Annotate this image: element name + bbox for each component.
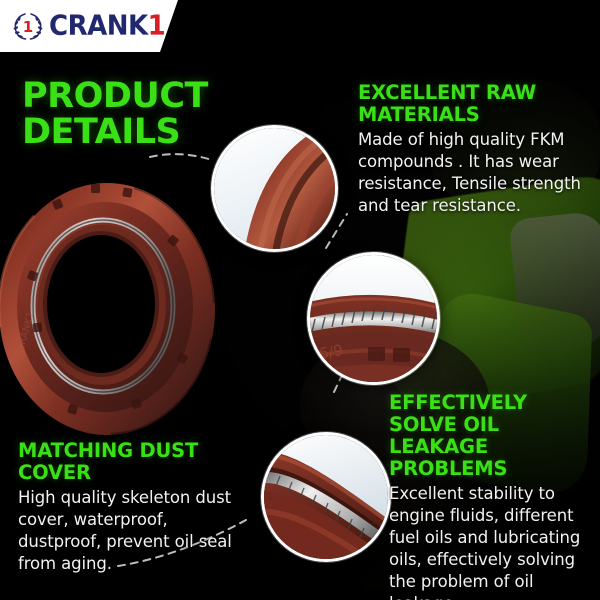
page-title: PRODUCT DETAILS bbox=[22, 78, 208, 151]
brand-accent-number: 1 bbox=[148, 10, 166, 42]
callout-oil-leakage-body: Excellent stability to engine fluids, di… bbox=[389, 483, 589, 600]
laurel-wreath-icon: 1 bbox=[12, 11, 44, 41]
brand-name: CRANK bbox=[49, 10, 148, 42]
product-details-banner: CRANK1 bbox=[0, 0, 600, 600]
callout-raw-materials-body: Made of high quality FKM compounds . It … bbox=[358, 129, 583, 217]
callout-oil-leakage-heading: EFFECTIVELY SOLVE OIL LEAKAGE PROBLEMS bbox=[389, 392, 589, 480]
callout-raw-materials-heading: EXCELLENT RAW MATERIALS bbox=[358, 82, 583, 126]
callout-raw-materials: EXCELLENT RAW MATERIALS Made of high qua… bbox=[358, 82, 583, 217]
svg-text:1: 1 bbox=[23, 18, 33, 36]
callout-dust-cover: MATCHING DUST COVER High quality skeleto… bbox=[18, 440, 238, 575]
callout-dust-cover-body: High quality skeleton dust cover, waterp… bbox=[18, 487, 238, 575]
detail-circle-seal-edge[interactable] bbox=[211, 125, 338, 252]
page-title-line-2: DETAILS bbox=[22, 114, 208, 150]
callout-oil-leakage: EFFECTIVELY SOLVE OIL LEAKAGE PROBLEMS E… bbox=[389, 392, 589, 600]
detail-circle-dust-lip[interactable] bbox=[261, 432, 391, 562]
brand-wordmark: CRANK1 bbox=[49, 12, 165, 40]
brand-logo-bar[interactable]: 1 CRANK1 bbox=[0, 0, 188, 52]
page-title-line-1: PRODUCT bbox=[22, 78, 208, 114]
main-product-oil-seal: CRANK1 bbox=[0, 178, 220, 440]
detail-circle-spring-coil[interactable]: 6/9 bbox=[307, 252, 440, 385]
callout-dust-cover-heading: MATCHING DUST COVER bbox=[18, 440, 238, 484]
